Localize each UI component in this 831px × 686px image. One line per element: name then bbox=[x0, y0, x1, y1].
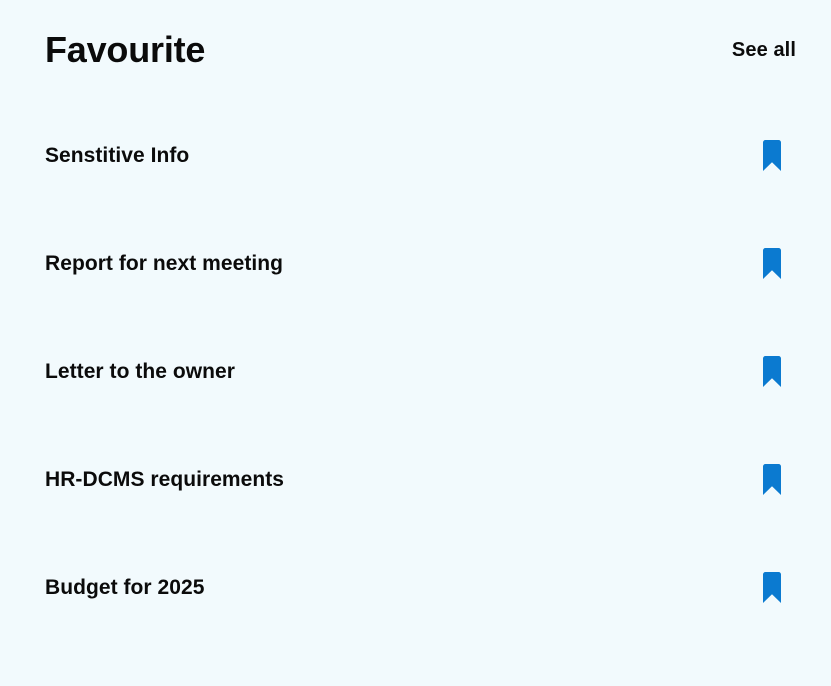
bookmark-toggle-button[interactable] bbox=[760, 248, 784, 280]
list-item[interactable]: Letter to the owner bbox=[0, 318, 831, 426]
list-item-label: Budget for 2025 bbox=[45, 575, 204, 600]
list-item[interactable]: Report for next meeting bbox=[0, 210, 831, 318]
bookmark-toggle-button[interactable] bbox=[760, 464, 784, 496]
list-item-label: Senstitive Info bbox=[45, 143, 189, 168]
bookmark-filled-icon bbox=[760, 356, 784, 388]
list-item-label: Letter to the owner bbox=[45, 359, 235, 384]
bookmark-toggle-button[interactable] bbox=[760, 572, 784, 604]
bookmark-filled-icon bbox=[760, 248, 784, 280]
panel-header: Favourite See all bbox=[0, 0, 831, 100]
list-item-label: Report for next meeting bbox=[45, 251, 283, 276]
see-all-button[interactable]: See all bbox=[732, 40, 796, 60]
favourite-panel: Favourite See all Senstitive Info Report… bbox=[0, 0, 831, 686]
list-item-label: HR-DCMS requirements bbox=[45, 467, 284, 492]
favourite-list: Senstitive Info Report for next meeting bbox=[0, 102, 831, 642]
bookmark-filled-icon bbox=[760, 572, 784, 604]
bookmark-filled-icon bbox=[760, 140, 784, 172]
bookmark-toggle-button[interactable] bbox=[760, 356, 784, 388]
list-item[interactable]: Budget for 2025 bbox=[0, 534, 831, 642]
list-item[interactable]: HR-DCMS requirements bbox=[0, 426, 831, 534]
bookmark-filled-icon bbox=[760, 464, 784, 496]
bookmark-toggle-button[interactable] bbox=[760, 140, 784, 172]
list-item[interactable]: Senstitive Info bbox=[0, 102, 831, 210]
page-title: Favourite bbox=[45, 32, 205, 68]
